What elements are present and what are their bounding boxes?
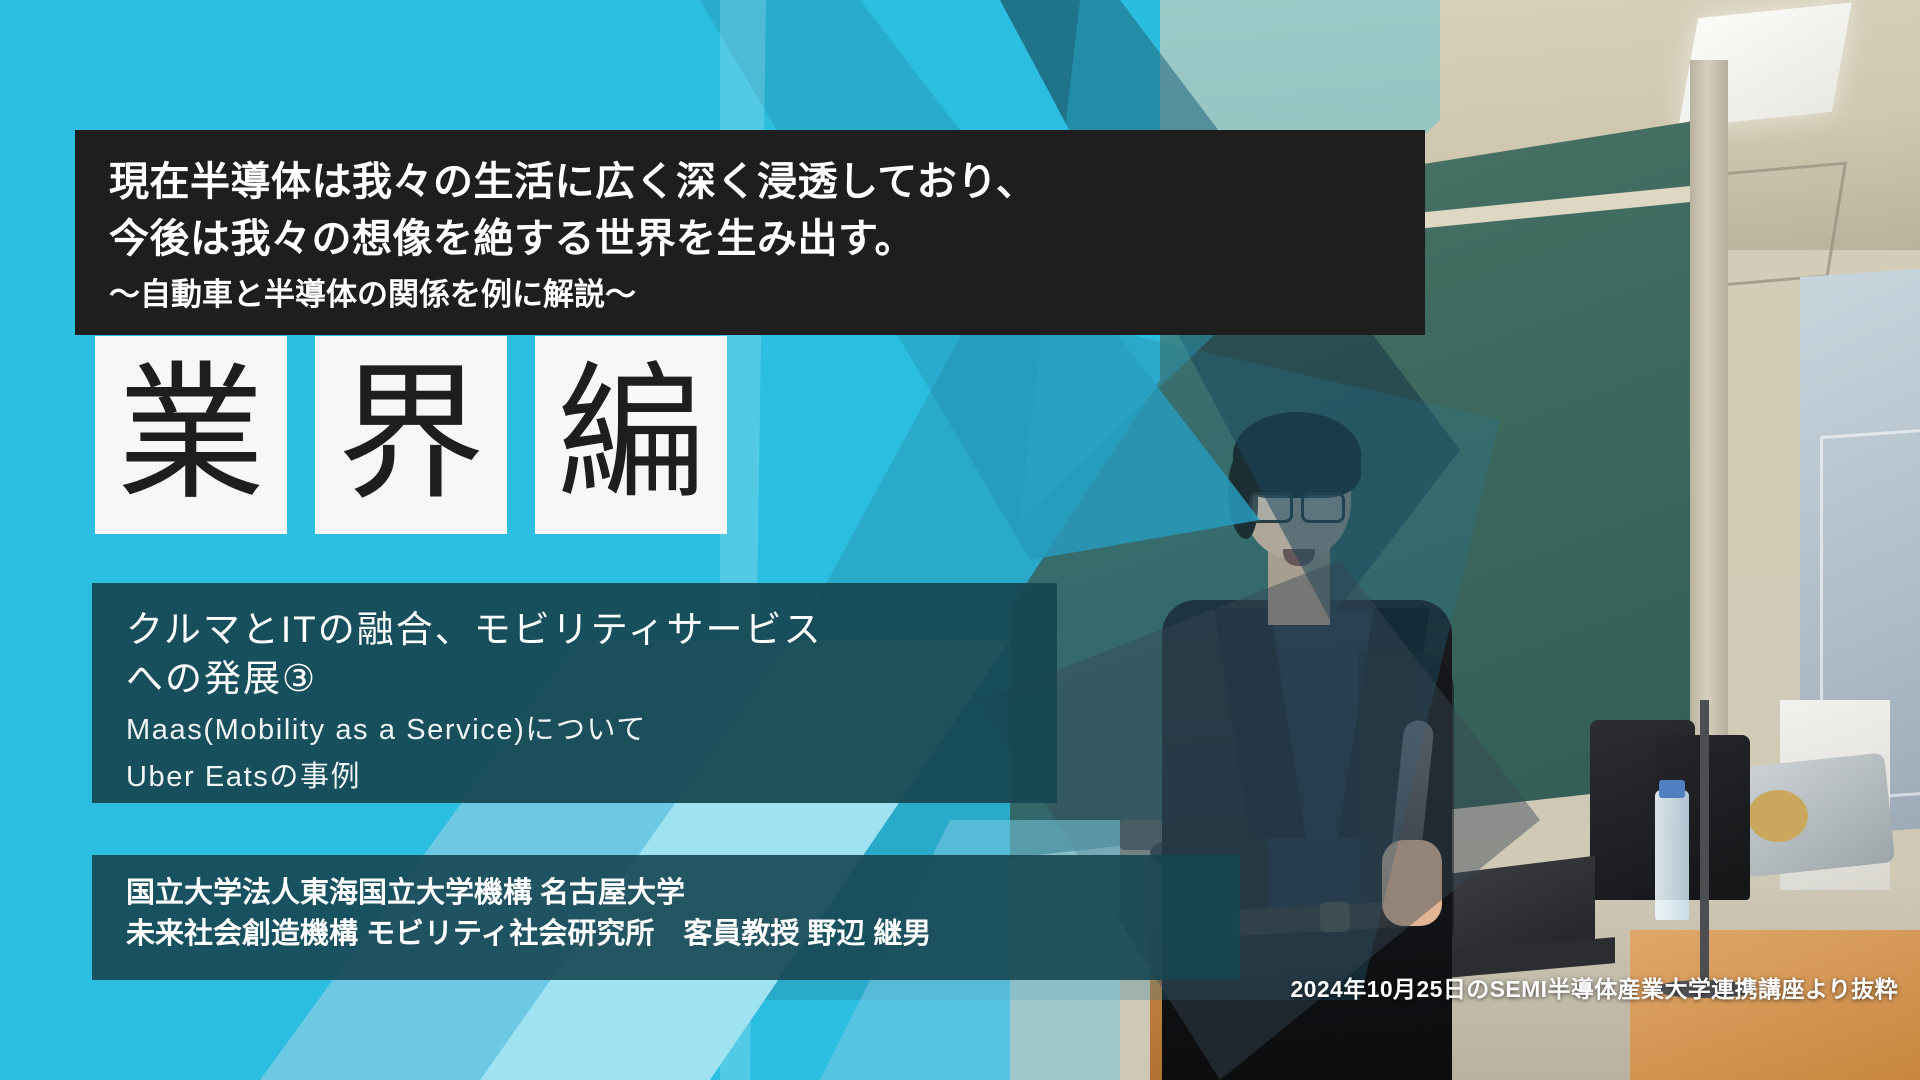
affiliation-block: 国立大学法人東海国立大学機構 名古屋大学 未来社会創造機構 モビリティ社会研究所… <box>92 855 1240 980</box>
kanji-badge-cell: 業 <box>95 336 287 534</box>
subtitle-line-1: クルマとITの融合、モビリティサービス <box>126 605 1057 654</box>
affiliation-line-1: 国立大学法人東海国立大学機構 名古屋大学 <box>126 873 1240 914</box>
headline-block: 現在半導体は我々の生活に広く深く浸透しており、 今後は我々の想像を絶する世界を生… <box>75 130 1425 335</box>
photo-mic-stand <box>1700 700 1709 990</box>
kanji-badge-cell: 編 <box>535 336 727 534</box>
headline-line-1: 現在半導体は我々の生活に広く深く浸透しており、 <box>109 154 1391 211</box>
headline-line-2: 今後は我々の想像を絶する世界を生み出す。 <box>109 211 1391 268</box>
headline-line-3: 〜自動車と半導体の関係を例に解説〜 <box>109 274 1391 316</box>
subtitle-block: クルマとITの融合、モビリティサービス への発展③ Maas(Mobility … <box>92 583 1057 803</box>
source-credit-text: 2024年10月25日のSEMI半導体産業大学連携講座より抜粋 <box>1290 970 1898 1004</box>
kanji-badge-cell: 界 <box>315 336 507 534</box>
projector-lens <box>1748 790 1808 842</box>
subtitle-line-3: Maas(Mobility as a Service)について <box>126 711 1057 750</box>
water-bottle-cap <box>1659 780 1685 798</box>
presentation-slide: 現在半導体は我々の生活に広く深く浸透しており、 今後は我々の想像を絶する世界を生… <box>0 0 1920 1080</box>
photo-desk-wood <box>1630 930 1920 1080</box>
kanji-badge-row: 業 界 編 <box>95 336 727 534</box>
affiliation-line-2: 未来社会創造機構 モビリティ社会研究所 客員教授 野辺 継男 <box>126 914 1240 955</box>
subtitle-line-2: への発展③ <box>126 654 1057 703</box>
photo-water-bottle <box>1655 790 1689 920</box>
subtitle-line-4: Uber Eatsの事例 <box>126 758 1057 797</box>
